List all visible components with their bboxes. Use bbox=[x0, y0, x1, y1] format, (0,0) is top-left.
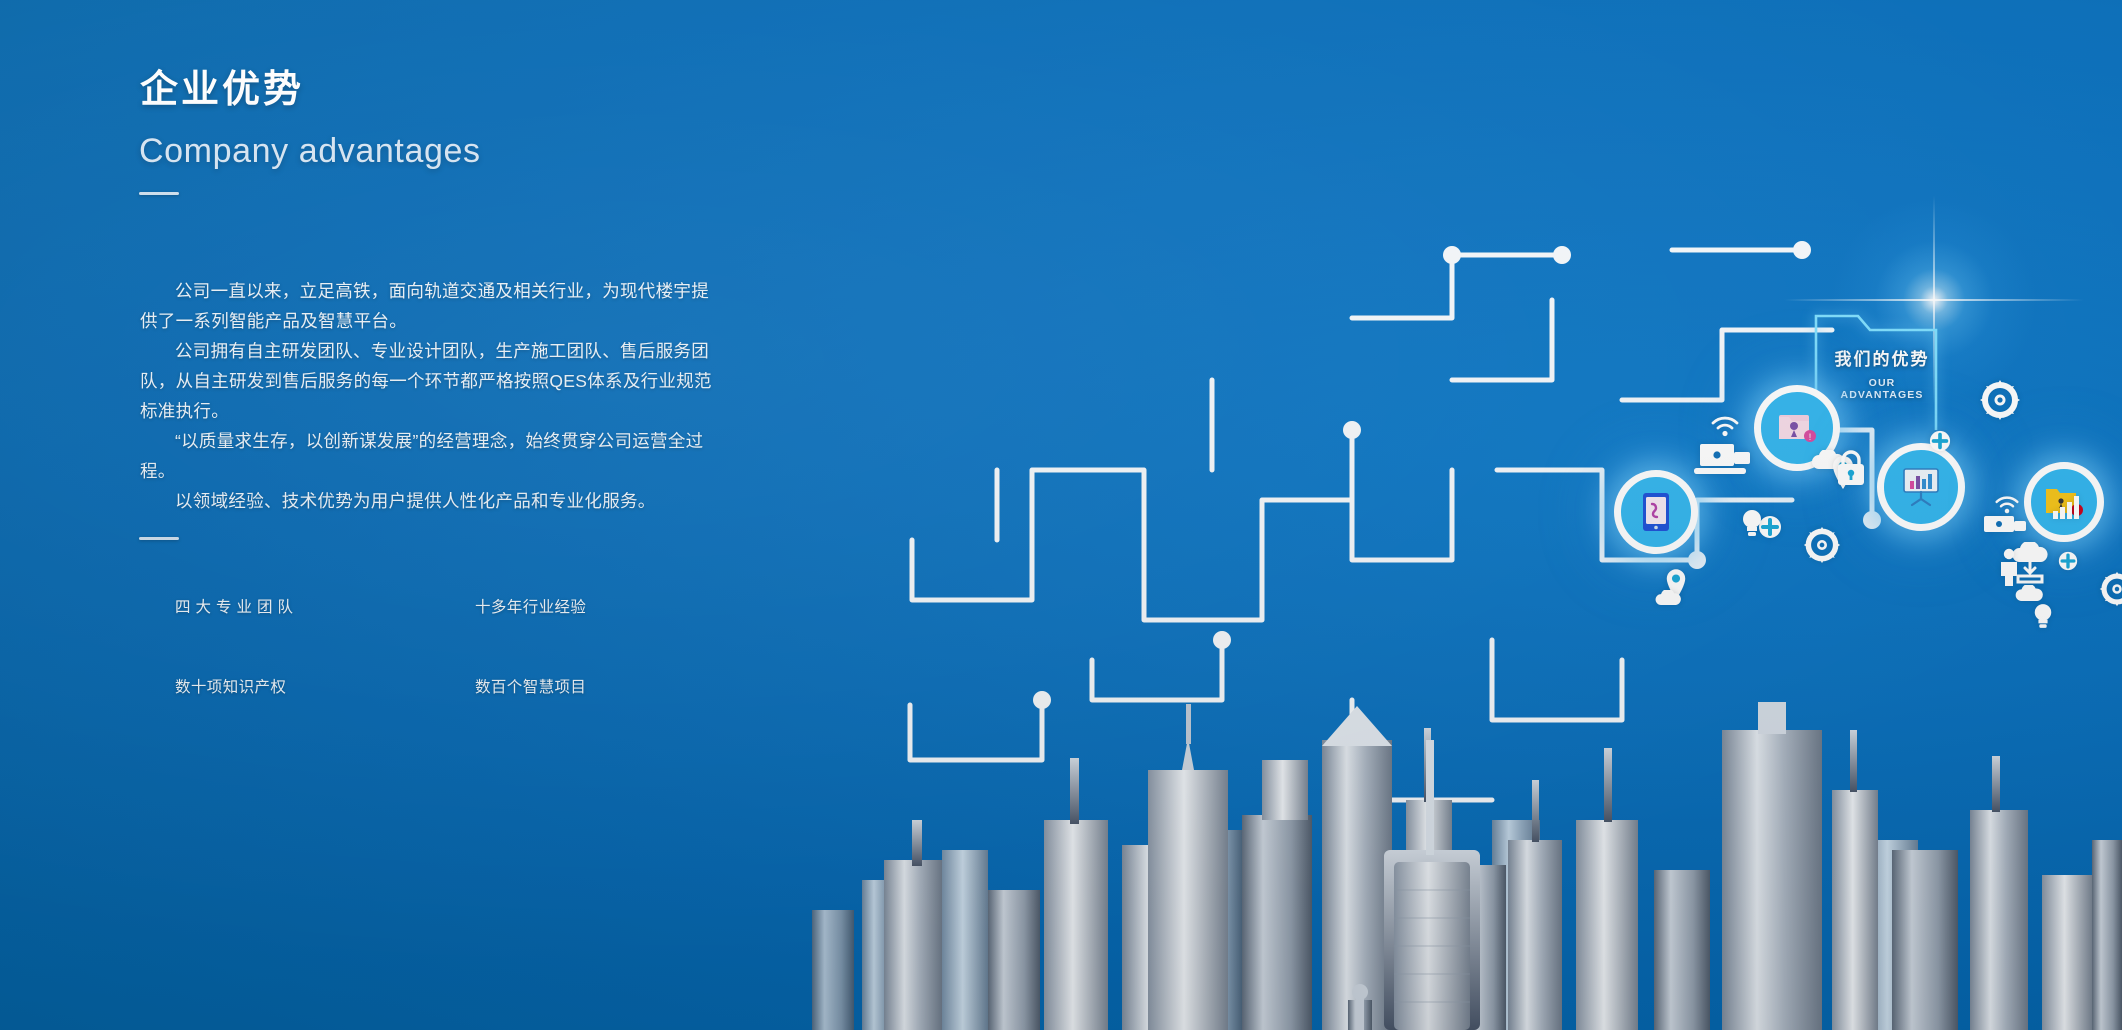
paragraph: 公司一直以来，立足高铁，面向轨道交通及相关行业，为现代楼宇提供了一系列智能产品及… bbox=[140, 276, 718, 336]
stat-item: 数百个智慧项目 bbox=[475, 675, 735, 697]
text-column: 企业优势 Company advantages 公司一直以来，立足高铁，面向轨道… bbox=[0, 0, 1000, 1030]
bar-chart-badge-icon bbox=[1877, 443, 1965, 531]
svg-text:!: ! bbox=[1809, 432, 1812, 442]
lightbulb-icon bbox=[1740, 508, 1764, 538]
router-icon bbox=[1982, 512, 2028, 540]
stat-item: 四大专业团队 bbox=[175, 595, 475, 617]
gear-icon bbox=[2098, 570, 2122, 608]
person-icon bbox=[1998, 548, 2020, 586]
laptop-icon bbox=[1694, 442, 1752, 478]
body-copy: 公司一直以来，立足高铁，面向轨道交通及相关行业，为现代楼宇提供了一系列智能产品及… bbox=[140, 276, 718, 516]
lock-icon bbox=[1834, 448, 1868, 486]
page-title-cn: 企业优势 bbox=[140, 58, 304, 113]
gear-icon bbox=[1802, 525, 1842, 565]
lightbulb-icon bbox=[2032, 602, 2054, 630]
paragraph: “以质量求生存，以创新谋发展”的经营理念，始终贯穿公司运营全过程。 bbox=[140, 426, 718, 486]
cloud-icon bbox=[1654, 590, 1682, 606]
signal-bars-icon bbox=[2052, 495, 2082, 519]
plus-circle-icon bbox=[2058, 551, 2078, 571]
stat-item: 数十项知识产权 bbox=[175, 675, 475, 697]
divider-top bbox=[139, 192, 179, 195]
slide-root: 我们的优势 OUR ADVANTAGES ! bbox=[0, 0, 2122, 1030]
paragraph: 以领域经验、技术优势为用户提供人性化产品和专业化服务。 bbox=[140, 486, 718, 516]
divider-bottom bbox=[139, 537, 179, 540]
page-title-en: Company advantages bbox=[139, 132, 481, 171]
smartphone-call-badge-icon bbox=[1614, 470, 1698, 554]
stat-item: 十多年行业经验 bbox=[475, 595, 735, 617]
cloud-icon bbox=[2014, 585, 2044, 602]
plus-circle-icon bbox=[1929, 430, 1951, 452]
wifi-icon bbox=[1710, 415, 1740, 437]
card-title-en: OUR ADVANTAGES bbox=[1827, 377, 1937, 401]
paragraph: 公司拥有自主研发团队、专业设计团队，生产施工团队、售后服务团队，从自主研发到售后… bbox=[140, 336, 718, 426]
stats-grid: 四大专业团队 十多年行业经验 数十项知识产权 数百个智慧项目 bbox=[175, 595, 735, 697]
gear-icon bbox=[1978, 378, 2022, 422]
card-title-cn: 我们的优势 bbox=[1827, 345, 1937, 370]
